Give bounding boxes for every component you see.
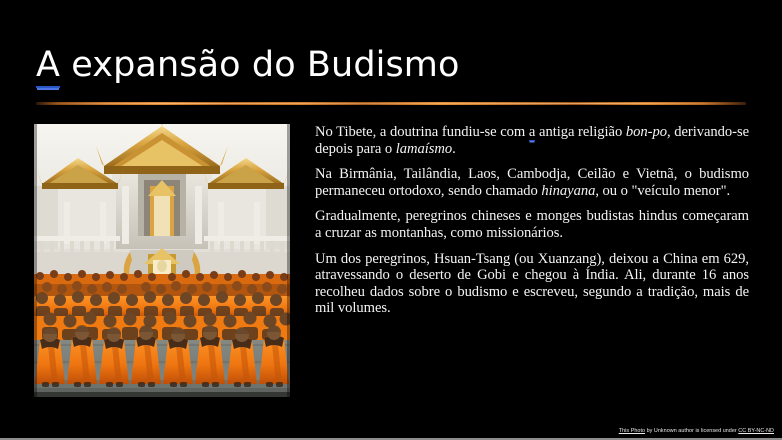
- term-hinayana: hinayana: [541, 183, 595, 199]
- spellcheck-word: a: [529, 124, 535, 141]
- paragraph-4: Um dos peregrinos, Hsuan-Tsang (ou Xuanz…: [315, 251, 749, 317]
- paragraph-3: Gradualmente, peregrinos chineses e mong…: [315, 208, 749, 241]
- term-bon-po: bon-po: [626, 124, 667, 140]
- body-text-block: No Tibete, a doutrina fundiu-se com a an…: [315, 124, 749, 317]
- slide-canvas: A expansão do Budismo: [0, 0, 782, 440]
- slide-photo: [34, 124, 290, 397]
- attribution-license-link[interactable]: CC BY-NC-ND: [738, 428, 774, 434]
- paragraph-2: Na Birmânia, Tailândia, Laos, Cambodja, …: [315, 166, 749, 199]
- photo-attribution: This Photo by Unknown author is licensed…: [619, 427, 774, 435]
- title-divider-rule: [36, 102, 746, 105]
- term-lamaismo: lamaísmo: [396, 141, 452, 157]
- temple-monks-illustration: [34, 124, 290, 397]
- paragraph-1: No Tibete, a doutrina fundiu-se com a an…: [315, 124, 749, 157]
- title-rest: expansão do Budismo: [60, 45, 459, 85]
- attribution-photo-link[interactable]: This Photo: [619, 428, 645, 434]
- attribution-middle-text: by Unknown author is licensed under: [645, 428, 738, 434]
- page-title: A expansão do Budismo: [36, 44, 736, 86]
- title-first-letter: A: [36, 45, 60, 88]
